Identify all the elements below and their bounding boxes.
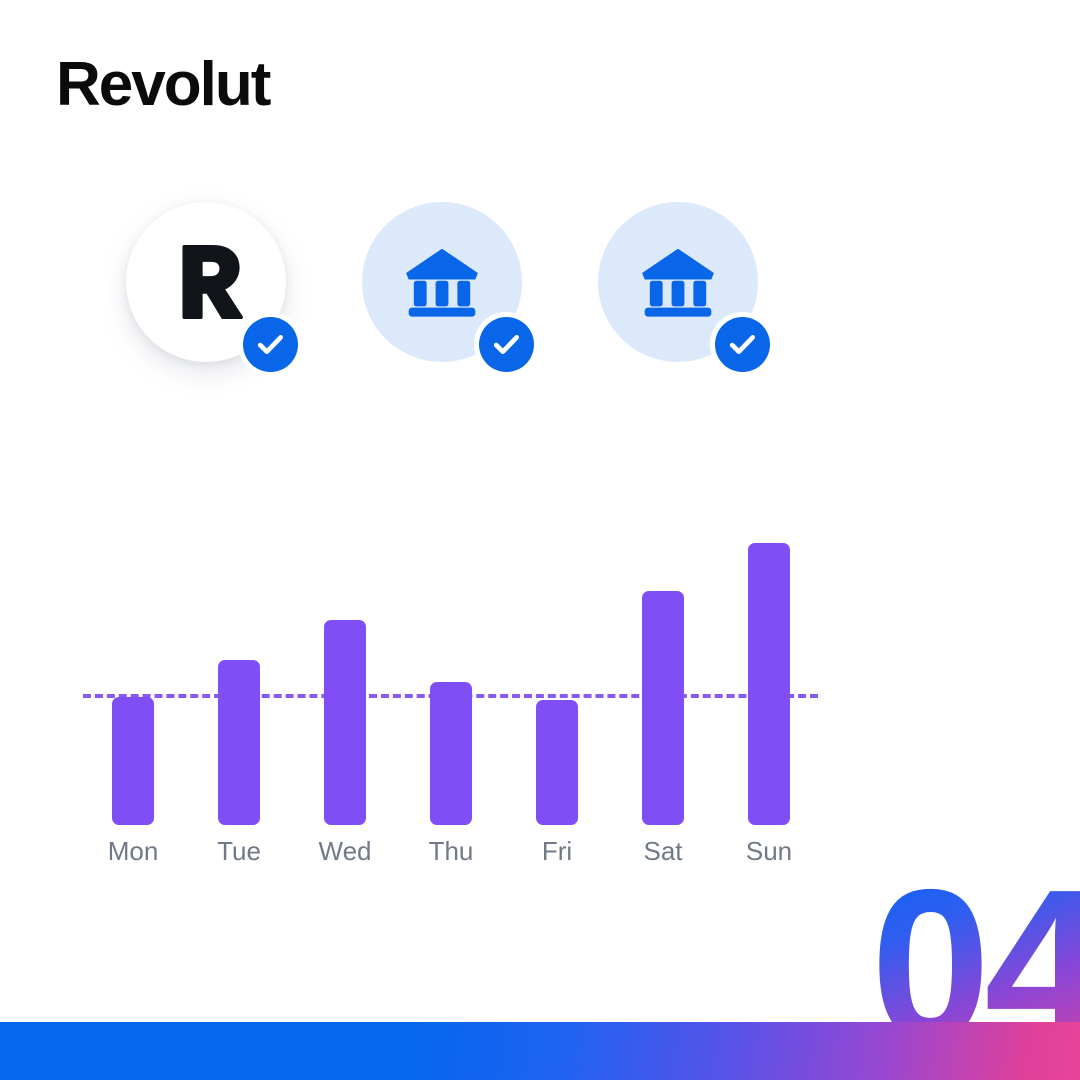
verified-badge bbox=[474, 312, 538, 376]
revolut-r-icon bbox=[164, 240, 248, 324]
chart-category-labels: MonTueWedThuFriSatSun bbox=[83, 838, 843, 878]
verified-badge-fill bbox=[479, 317, 534, 372]
weekly-spending-chart: MonTueWedThuFriSatSun bbox=[83, 540, 843, 890]
verified-badge-fill bbox=[243, 317, 298, 372]
chart-category-label: Sun bbox=[714, 838, 824, 864]
chart-bar[interactable] bbox=[112, 697, 154, 825]
chart-bar[interactable] bbox=[748, 543, 790, 825]
chart-bar[interactable] bbox=[536, 700, 578, 825]
chart-category-label: Mon bbox=[78, 838, 188, 864]
bank-icon bbox=[401, 241, 483, 323]
chart-bar[interactable] bbox=[430, 682, 472, 825]
chart-plot-area bbox=[83, 540, 843, 825]
linked-accounts-row bbox=[126, 202, 826, 392]
check-icon bbox=[490, 328, 523, 361]
account-chip-revolut[interactable] bbox=[126, 202, 286, 362]
account-chip-bank-1[interactable] bbox=[362, 202, 522, 362]
chart-category-label: Wed bbox=[290, 838, 400, 864]
check-icon bbox=[726, 328, 759, 361]
chart-category-label: Fri bbox=[502, 838, 612, 864]
bank-icon bbox=[637, 241, 719, 323]
chart-category-label: Thu bbox=[396, 838, 506, 864]
verified-badge bbox=[710, 312, 774, 376]
bottom-accent-bar bbox=[0, 1022, 1080, 1080]
verified-badge-fill bbox=[715, 317, 770, 372]
chart-category-label: Tue bbox=[184, 838, 294, 864]
chart-bar[interactable] bbox=[218, 660, 260, 825]
chart-bar[interactable] bbox=[642, 591, 684, 825]
verified-badge bbox=[238, 312, 302, 376]
chart-bar[interactable] bbox=[324, 620, 366, 825]
check-icon bbox=[254, 328, 287, 361]
brand-wordmark: Revolut bbox=[56, 54, 269, 116]
poster-canvas: Revolut bbox=[0, 0, 1080, 1080]
account-chip-bank-2[interactable] bbox=[598, 202, 758, 362]
chart-category-label: Sat bbox=[608, 838, 718, 864]
